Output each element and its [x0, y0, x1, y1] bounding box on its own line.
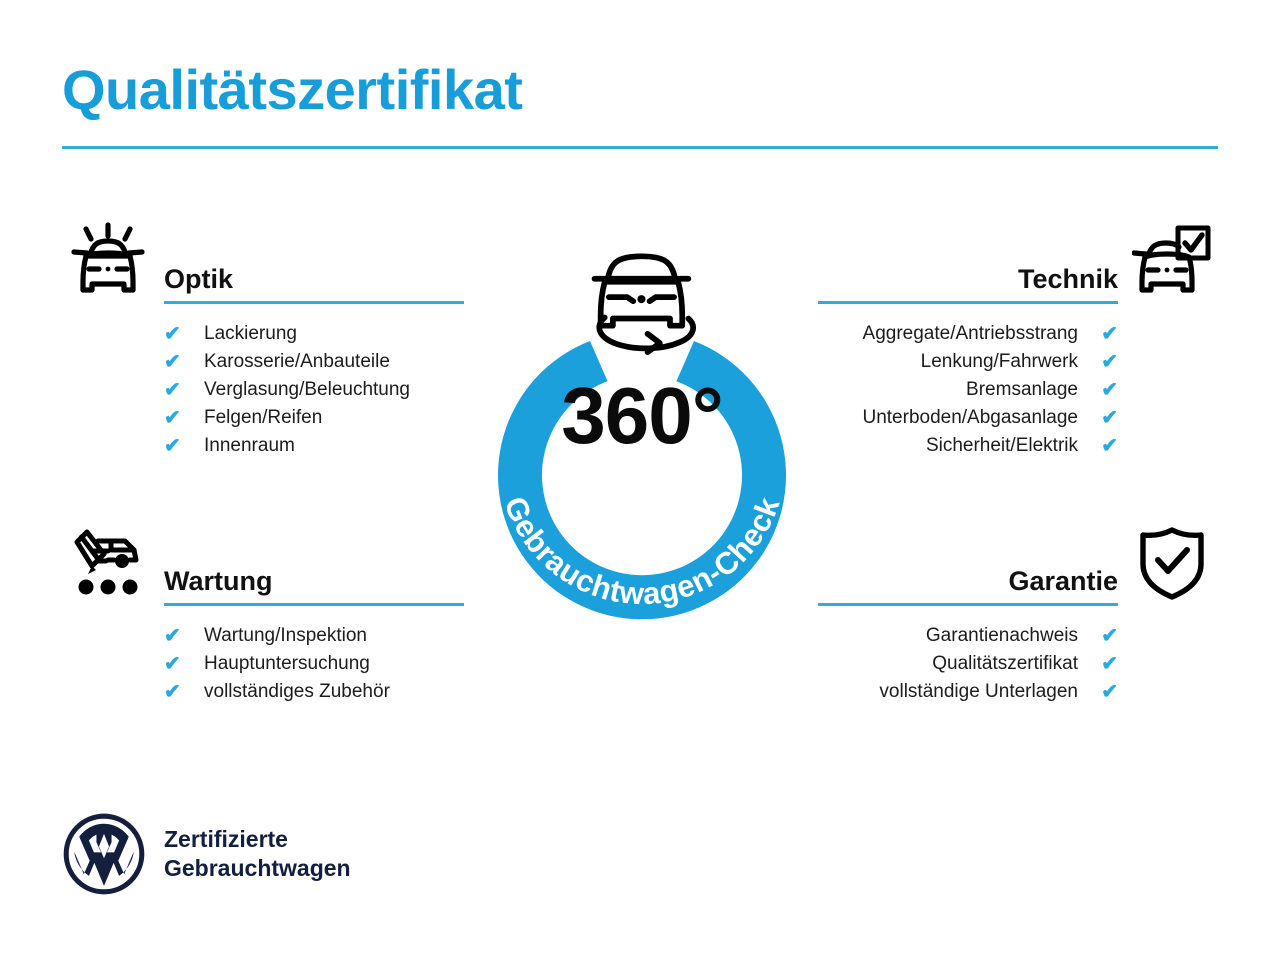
- section-garantie: Garantie Garantienachweis ✔ Qualitätszer…: [798, 520, 1218, 706]
- list-item: ✔ Innenraum: [164, 432, 482, 460]
- list-item: Garantienachweis ✔: [798, 622, 1118, 650]
- list-item-label: vollständiges Zubehör: [204, 681, 390, 704]
- badge-360-gebrauchtwagen-check: Gebrauchtwagen-Check 360°: [462, 228, 822, 640]
- section-technik: Technik Aggregate/Antriebsstrang ✔ Lenku…: [798, 218, 1218, 460]
- list-item: Aggregate/Antriebsstrang ✔: [798, 320, 1118, 348]
- list-item-label: Verglasung/Beleuchtung: [204, 379, 410, 402]
- list-item-label: Hauptuntersuchung: [204, 653, 370, 676]
- list-item: Qualitätszertifikat ✔: [798, 650, 1118, 678]
- list-item-label: Aggregate/Antriebsstrang: [863, 323, 1078, 346]
- car-checkbox-icon: [1126, 218, 1218, 304]
- section-underline: [164, 301, 464, 304]
- list-item-label: Unterboden/Abgasanlage: [862, 407, 1078, 430]
- section-title: Wartung: [164, 567, 464, 603]
- check-icon: ✔: [164, 380, 204, 400]
- list-item: Bremsanlage ✔: [798, 376, 1118, 404]
- check-icon: ✔: [1078, 654, 1118, 674]
- list-item: ✔ Verglasung/Beleuchtung: [164, 376, 482, 404]
- check-icon: ✔: [1078, 436, 1118, 456]
- list-item-label: Lenkung/Fahrwerk: [921, 351, 1078, 374]
- list-item-label: Karosserie/Anbauteile: [204, 351, 390, 374]
- section-underline: [818, 301, 1118, 304]
- pencil-car-icon: [62, 520, 154, 606]
- footer-line-1: Zertifizierte: [164, 825, 351, 854]
- list-item: Unterboden/Abgasanlage ✔: [798, 404, 1118, 432]
- list-item: Sicherheit/Elektrik ✔: [798, 432, 1118, 460]
- section-title-wrap-garantie: Garantie: [818, 567, 1118, 606]
- check-icon: ✔: [164, 408, 204, 428]
- list-item: ✔ Wartung/Inspektion: [164, 622, 482, 650]
- list-item: ✔ Lackierung: [164, 320, 482, 348]
- check-icon: ✔: [164, 436, 204, 456]
- check-icon: ✔: [164, 352, 204, 372]
- car-shine-icon: [62, 218, 154, 304]
- checklist-optik: ✔ Lackierung ✔ Karosserie/Anbauteile ✔ V…: [62, 320, 482, 460]
- list-item: ✔ Felgen/Reifen: [164, 404, 482, 432]
- check-icon: ✔: [164, 626, 204, 646]
- list-item: ✔ vollständiges Zubehör: [164, 678, 482, 706]
- car-rotate-icon: [595, 256, 694, 352]
- list-item: ✔ Hauptuntersuchung: [164, 650, 482, 678]
- list-item: Lenkung/Fahrwerk ✔: [798, 348, 1118, 376]
- footer-text: Zertifizierte Gebrauchtwagen: [164, 825, 351, 883]
- page-title: Qualitätszertifikat: [62, 58, 522, 122]
- section-optik: Optik ✔ Lackierung ✔ Karosserie/Anbautei…: [62, 218, 482, 460]
- check-icon: ✔: [1078, 626, 1118, 646]
- list-item-label: Wartung/Inspektion: [204, 625, 367, 648]
- list-item-label: Lackierung: [204, 323, 297, 346]
- list-item-label: Innenraum: [204, 435, 295, 458]
- check-icon: ✔: [1078, 682, 1118, 702]
- section-title-wrap-optik: Optik: [164, 265, 464, 304]
- checklist-technik: Aggregate/Antriebsstrang ✔ Lenkung/Fahrw…: [798, 320, 1218, 460]
- list-item-label: Garantienachweis: [926, 625, 1078, 648]
- list-item-label: Felgen/Reifen: [204, 407, 322, 430]
- checklist-wartung: ✔ Wartung/Inspektion ✔ Hauptuntersuchung…: [62, 622, 482, 706]
- section-title: Garantie: [818, 567, 1118, 603]
- section-title: Technik: [818, 265, 1118, 301]
- check-icon: ✔: [1078, 324, 1118, 344]
- check-icon: ✔: [1078, 380, 1118, 400]
- list-item-label: Sicherheit/Elektrik: [926, 435, 1078, 458]
- shield-check-icon: [1126, 520, 1218, 606]
- check-icon: ✔: [164, 682, 204, 702]
- section-header-optik: Optik: [62, 218, 482, 304]
- check-icon: ✔: [1078, 352, 1118, 372]
- section-title-wrap-technik: Technik: [818, 265, 1118, 304]
- list-item-label: vollständige Unterlagen: [879, 681, 1078, 704]
- section-wartung: Wartung ✔ Wartung/Inspektion ✔ Hauptunte…: [62, 520, 482, 706]
- section-header-technik: Technik: [798, 218, 1218, 304]
- title-divider: [62, 146, 1218, 149]
- check-icon: ✔: [164, 324, 204, 344]
- quality-certificate-page: Qualitätszertifikat: [0, 0, 1280, 960]
- check-icon: ✔: [164, 654, 204, 674]
- check-icon: ✔: [1078, 408, 1118, 428]
- list-item-label: Qualitätszertifikat: [932, 653, 1078, 676]
- section-underline: [818, 603, 1118, 606]
- section-header-wartung: Wartung: [62, 520, 482, 606]
- volkswagen-logo: [62, 812, 146, 896]
- section-header-garantie: Garantie: [798, 520, 1218, 606]
- section-underline: [164, 603, 464, 606]
- checklist-garantie: Garantienachweis ✔ Qualitätszertifikat ✔…: [798, 622, 1218, 706]
- footer-line-2: Gebrauchtwagen: [164, 854, 351, 883]
- list-item: vollständige Unterlagen ✔: [798, 678, 1118, 706]
- section-title: Optik: [164, 265, 464, 301]
- footer-brand: Zertifizierte Gebrauchtwagen: [62, 812, 351, 896]
- list-item-label: Bremsanlage: [966, 379, 1078, 402]
- section-title-wrap-wartung: Wartung: [164, 567, 464, 606]
- list-item: ✔ Karosserie/Anbauteile: [164, 348, 482, 376]
